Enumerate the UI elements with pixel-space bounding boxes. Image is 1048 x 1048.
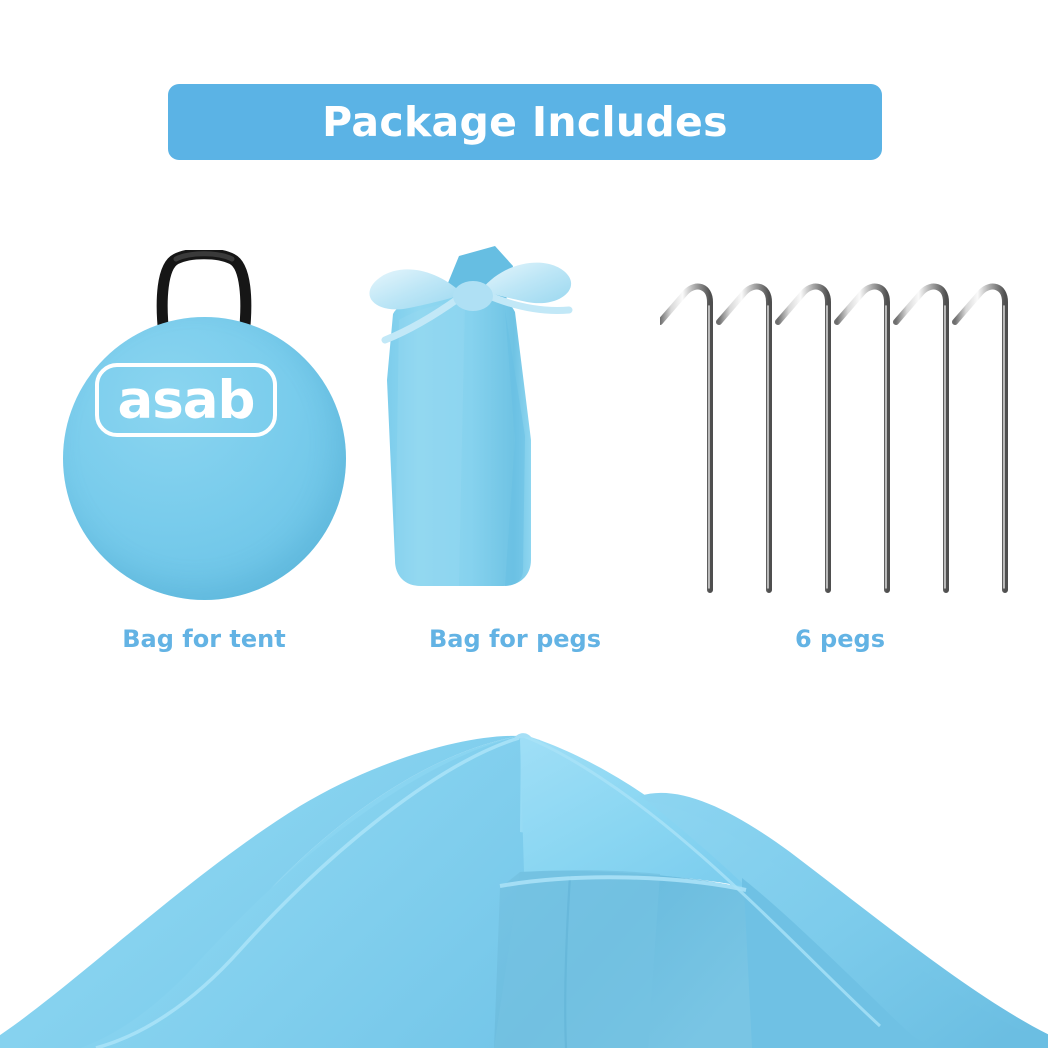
package-includes-banner: Package Includes	[168, 84, 882, 160]
drawstring-pouch-icon	[355, 240, 675, 600]
pop-up-beach-tent: asab	[0, 700, 1048, 1048]
item-bag-for-pegs: Bag for pegs	[355, 240, 675, 670]
item-label-bag-for-tent: Bag for tent	[44, 625, 364, 653]
tent-pegs-icon	[660, 240, 1020, 600]
asab-logo: asab	[95, 363, 277, 437]
asab-logo-text: asab	[117, 374, 254, 427]
item-bag-for-tent: asab Bag for tent	[44, 240, 364, 670]
item-label-bag-for-pegs: Bag for pegs	[355, 625, 675, 653]
item-label-6-pegs: 6 pegs	[660, 625, 1020, 653]
tent-illustration	[0, 700, 1048, 1048]
item-tent-pegs: 6 pegs	[660, 240, 1020, 670]
page-title: Package Includes	[322, 102, 728, 143]
round-carry-bag-body	[63, 317, 346, 600]
product-infographic: Package Includes asab Bag for tent	[0, 0, 1048, 1048]
